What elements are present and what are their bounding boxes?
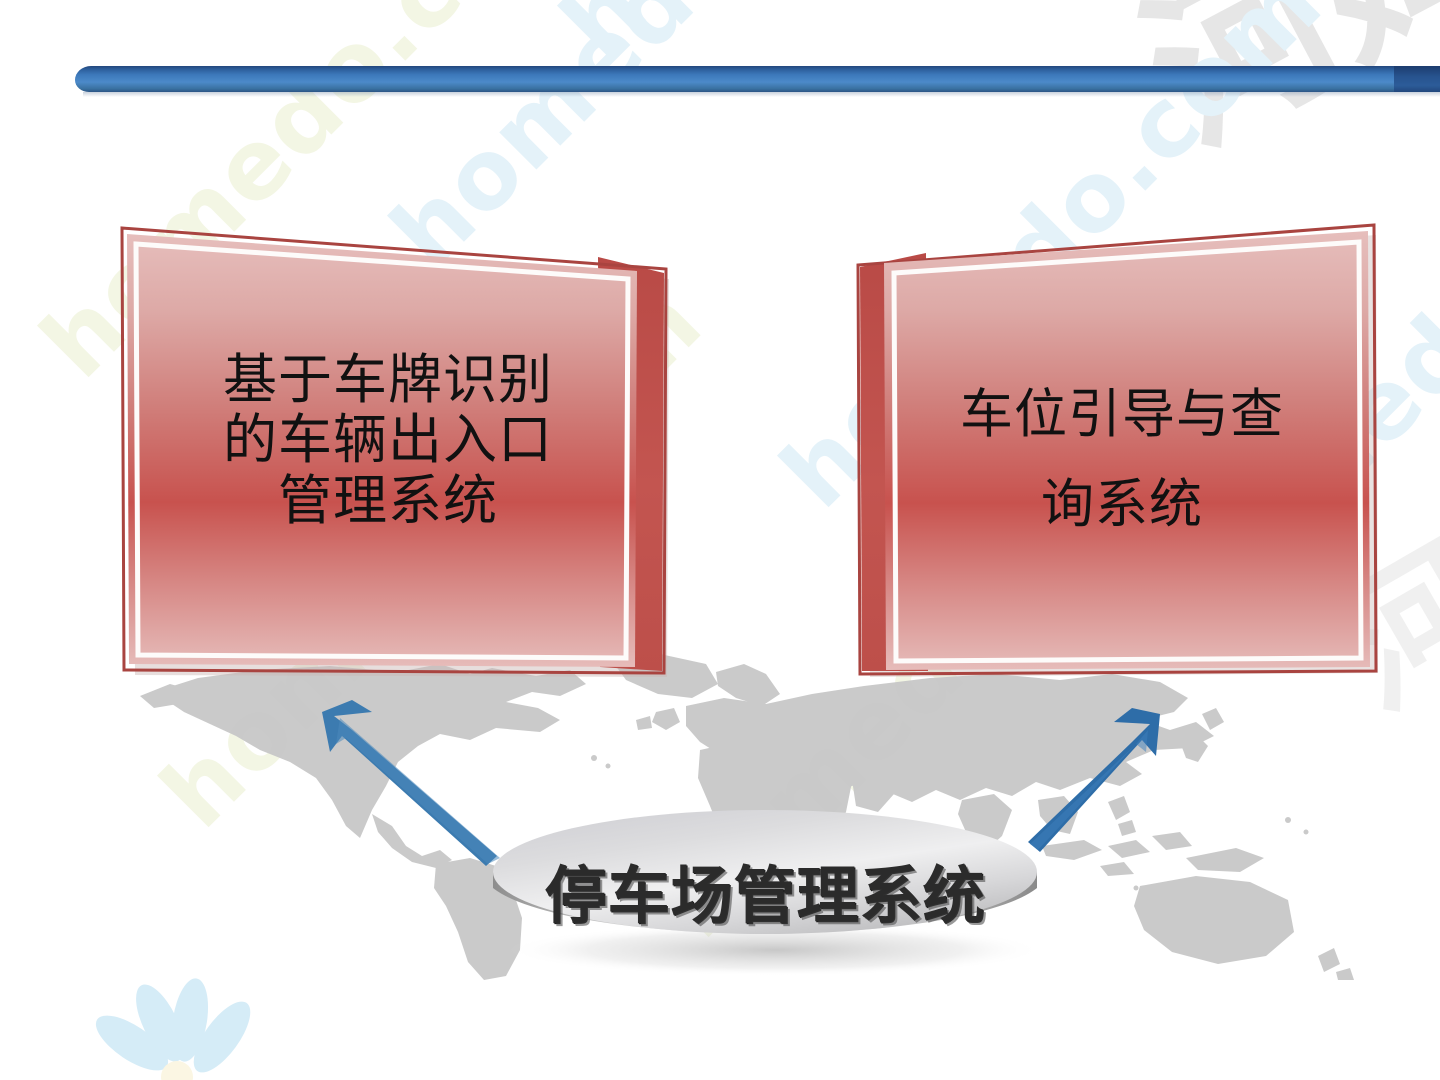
branch-node-left-label: 基于车牌识别 的车辆出入口 管理系统 — [178, 350, 598, 531]
branch-node-right-label: 车位引导与查 询系统 — [912, 370, 1332, 550]
arrow-to-left-node-icon — [322, 700, 500, 866]
slide-canvas: 河姆渡 河姆渡 homedo.com homedo.com homedo.com… — [0, 0, 1440, 1080]
center-node-label: 停车场管理系统 — [480, 845, 1050, 935]
